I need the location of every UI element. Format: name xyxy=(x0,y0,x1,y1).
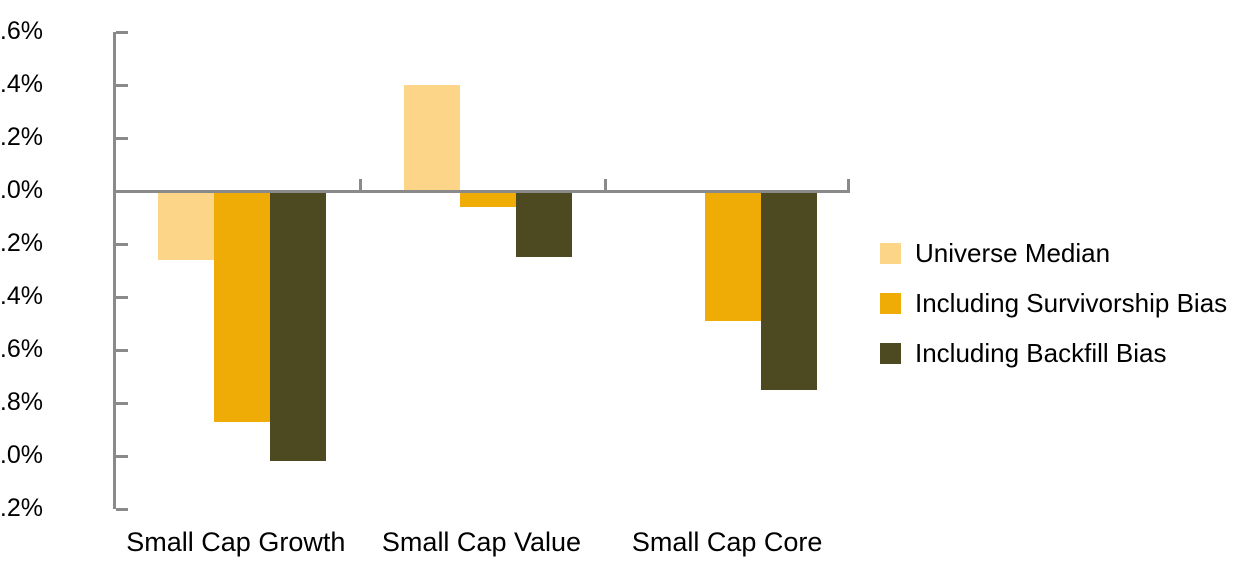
bar xyxy=(214,191,270,422)
legend-label: Universe Median xyxy=(915,240,1110,266)
y-axis-tick xyxy=(116,296,128,299)
bar xyxy=(404,85,460,191)
y-axis-tick-label: -1.2% xyxy=(0,496,43,521)
x-axis-tick xyxy=(604,179,607,191)
x-axis-category-label: Small Cap Core xyxy=(604,529,850,556)
y-axis-tick-label: 0.4% xyxy=(0,72,43,97)
bar xyxy=(460,191,516,207)
chart-legend: Universe MedianIncluding Survivorship Bi… xyxy=(880,228,1230,378)
y-axis-tick-label: -0.2% xyxy=(0,231,43,256)
y-axis-tick xyxy=(116,243,128,246)
legend-swatch-icon xyxy=(880,343,901,364)
y-axis-tick-label: -0.6% xyxy=(0,337,43,362)
y-axis-tick xyxy=(116,137,128,140)
legend-swatch-icon xyxy=(880,293,901,314)
legend-item: Including Backfill Bias xyxy=(880,328,1230,378)
plot-area xyxy=(113,32,850,509)
y-axis-tick xyxy=(116,402,128,405)
bar xyxy=(516,191,572,257)
bar xyxy=(761,191,817,390)
bar xyxy=(270,191,326,461)
legend-item: Including Survivorship Bias xyxy=(880,278,1230,328)
x-axis-category-label: Small Cap Growth xyxy=(113,529,359,556)
x-axis-category-label: Small Cap Value xyxy=(359,529,605,556)
x-axis-tick xyxy=(359,179,362,191)
y-axis-tick-label: -0.4% xyxy=(0,284,43,309)
y-axis-line xyxy=(113,32,116,509)
bar-chart: 0.6%0.4%0.2%0.0%-0.2%-0.4%-0.6%-0.8%-1.0… xyxy=(0,0,1244,570)
x-axis-tick xyxy=(847,179,850,191)
y-axis-tick-label: -0.8% xyxy=(0,390,43,415)
legend-label: Including Backfill Bias xyxy=(915,340,1166,366)
bar xyxy=(705,191,761,321)
y-axis-tick xyxy=(116,84,128,87)
y-axis-tick-label: 0.6% xyxy=(0,19,43,44)
y-axis-tick-label: 0.2% xyxy=(0,125,43,150)
y-axis-tick-label: 0.0% xyxy=(0,178,43,203)
y-axis-tick xyxy=(116,31,128,34)
y-axis-tick xyxy=(116,455,128,458)
legend-item: Universe Median xyxy=(880,228,1230,278)
y-axis-tick xyxy=(116,508,128,511)
bar xyxy=(158,191,214,260)
y-axis-tick xyxy=(116,349,128,352)
zero-baseline xyxy=(113,190,850,193)
legend-swatch-icon xyxy=(880,243,901,264)
legend-label: Including Survivorship Bias xyxy=(915,290,1227,316)
y-axis-tick-labels: 0.6%0.4%0.2%0.0%-0.2%-0.4%-0.6%-0.8%-1.0… xyxy=(0,0,100,570)
y-axis-tick-label: -1.0% xyxy=(0,443,43,468)
